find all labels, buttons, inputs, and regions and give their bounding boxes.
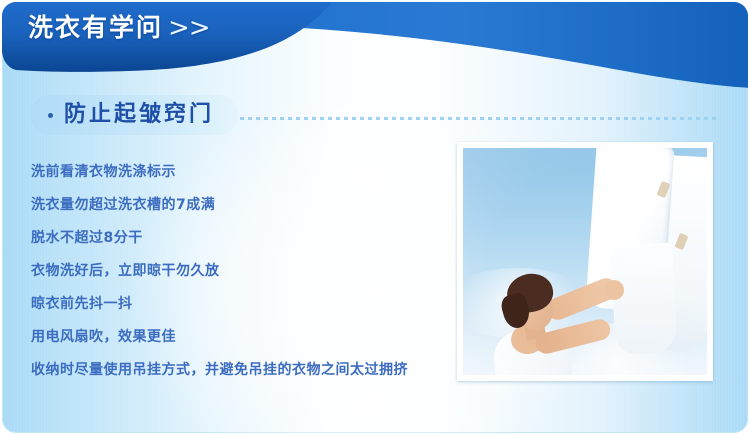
list-item: 洗衣量勿超过洗衣槽的7成满 bbox=[31, 189, 451, 222]
list-item: 洗前看清衣物洗涤标示 bbox=[31, 156, 451, 189]
list-item: 用电风扇吹，效果更佳 bbox=[31, 321, 451, 354]
list-item: 衣物洗好后，立即晾干勿久放 bbox=[31, 255, 451, 288]
dotted-divider bbox=[240, 117, 718, 120]
page-title-text: 洗衣有学问 bbox=[28, 13, 163, 42]
list-item: 收纳时尽量使用吊挂方式，并避免吊挂的衣物之间太过拥挤 bbox=[31, 354, 451, 387]
section-title: 防止起皱窍门 bbox=[64, 104, 214, 126]
section-pill: 防止起皱窍门 bbox=[30, 95, 238, 135]
bullet-dot-icon bbox=[48, 113, 53, 118]
section-heading-row: 防止起皱窍门 bbox=[2, 95, 748, 135]
list-item: 晾衣前先抖一抖 bbox=[31, 288, 451, 321]
page-root: 洗衣有学问>> 防止起皱窍门 洗前看清衣物洗涤标示 洗衣量勿超过洗衣槽的7成满 … bbox=[0, 0, 750, 435]
photo-frame bbox=[457, 142, 713, 381]
page-title: 洗衣有学问>> bbox=[28, 15, 210, 41]
tips-list: 洗前看清衣物洗涤标示 洗衣量勿超过洗衣槽的7成满 脱水不超过8分干 衣物洗好后，… bbox=[31, 156, 451, 387]
laundry-photo bbox=[463, 148, 707, 375]
chevron-right-icon: >> bbox=[163, 13, 210, 43]
list-item: 脱水不超过8分干 bbox=[31, 222, 451, 255]
photo-vignette bbox=[463, 148, 707, 375]
content-card: 洗衣有学问>> 防止起皱窍门 洗前看清衣物洗涤标示 洗衣量勿超过洗衣槽的7成满 … bbox=[2, 2, 748, 433]
